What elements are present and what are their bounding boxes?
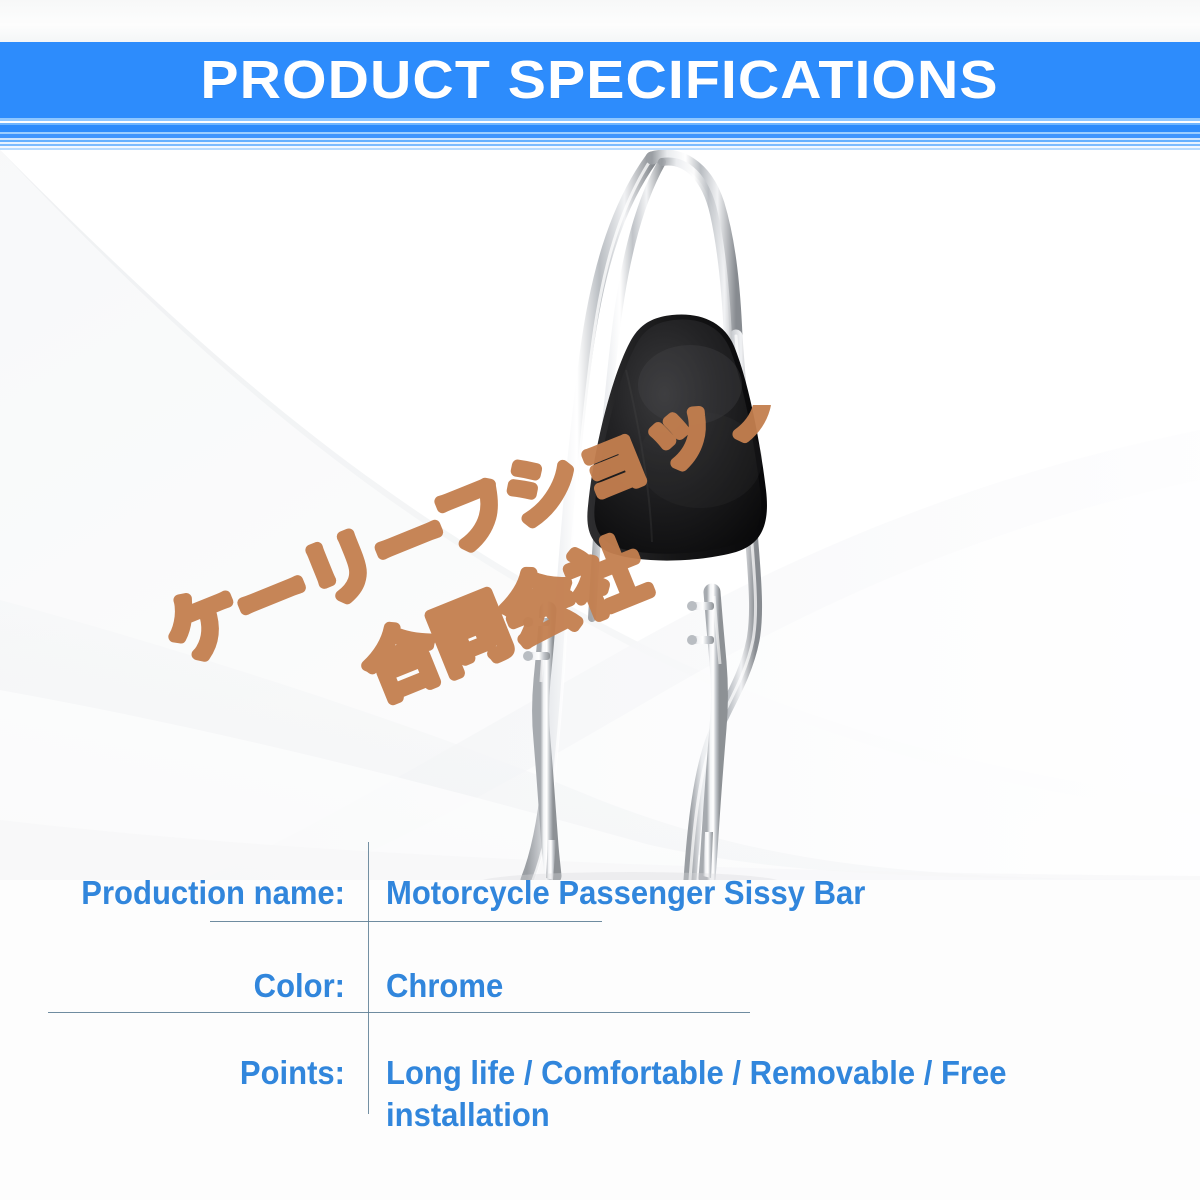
page-title: PRODUCT SPECIFICATIONS xyxy=(201,53,999,107)
spec-label-color: Color: xyxy=(21,965,345,1007)
spec-value-points: Long life / Comfortable / Removable / Fr… xyxy=(386,1052,1063,1136)
banner-stripe-decoration xyxy=(0,118,1200,150)
product-image-sissy-bar xyxy=(0,140,1200,880)
spec-rule-1 xyxy=(210,921,602,922)
banner-main-bar: PRODUCT SPECIFICATIONS xyxy=(0,42,1200,118)
spec-rule-2 xyxy=(48,1012,750,1013)
specification-table: Production name: Motorcycle Passenger Si… xyxy=(0,840,1200,1200)
spec-vertical-divider xyxy=(368,842,369,1114)
spec-value-production-name: Motorcycle Passenger Sissy Bar xyxy=(386,872,1063,914)
spec-label-production-name: Production name: xyxy=(21,872,345,914)
spec-value-color: Chrome xyxy=(386,965,1063,1007)
header-banner: PRODUCT SPECIFICATIONS xyxy=(0,0,1200,150)
product-specification-page: PRODUCT SPECIFICATIONS ケーリーフショップ 合同会社 P xyxy=(0,0,1200,1200)
spec-label-points: Points: xyxy=(21,1052,345,1094)
banner-top-padding xyxy=(0,0,1200,42)
